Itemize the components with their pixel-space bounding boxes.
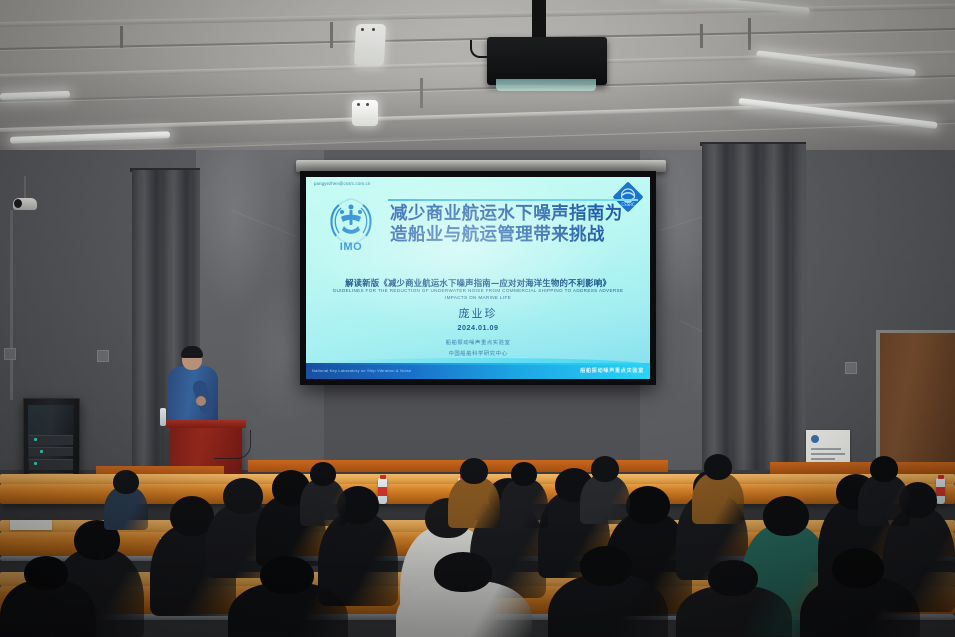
presenter-glasses-icon	[183, 357, 201, 362]
notice-line-1	[811, 448, 841, 450]
camera-lens-icon	[14, 199, 22, 208]
bottle-cap	[938, 475, 944, 479]
bottle-cap	[380, 475, 386, 479]
slide-email: pangyezhen@cssrc.com.cn	[314, 181, 370, 186]
audience-member	[500, 462, 548, 528]
projection-screen: pangyezhen@cssrc.com.cn	[300, 171, 656, 385]
audience-member	[676, 560, 792, 637]
wall-notice	[806, 430, 850, 466]
audience-head	[763, 496, 809, 536]
lamp-endcap-2	[372, 28, 375, 31]
audience-member	[858, 456, 910, 526]
audience-member	[580, 456, 630, 524]
curtain-right	[702, 144, 806, 474]
audience-body	[500, 479, 548, 528]
rack-led-2	[40, 450, 43, 453]
imo-logo-icon	[326, 195, 376, 247]
audience-head	[832, 548, 884, 588]
microphone-cable	[214, 430, 251, 459]
lamp-endcap-3	[357, 103, 360, 106]
wall-socket-1	[4, 348, 16, 360]
projector-lens	[496, 79, 596, 91]
audience-member	[300, 462, 346, 526]
lamp-endcap-4	[366, 103, 369, 106]
slide-subtitle-en: GUIDELINES FOR THE REDUCTION OF UNDERWAT…	[324, 287, 632, 301]
lecture-hall-photo: pangyezhen@cssrc.com.cn	[0, 0, 955, 637]
presenter-hand	[196, 396, 206, 406]
audience-head	[460, 458, 488, 484]
audience-member	[396, 552, 532, 637]
slide-org-line-1: 船舶振动噪声重点实验室	[316, 338, 640, 346]
audience-head	[113, 470, 139, 494]
audience-head	[580, 546, 632, 586]
audience-head	[626, 486, 670, 524]
audience-body	[858, 475, 910, 526]
title-divider	[388, 199, 638, 201]
audience-member	[448, 458, 500, 528]
projector-mount	[532, 0, 546, 40]
rack-led-3	[34, 462, 37, 465]
rack-led-1	[34, 438, 37, 441]
audience-body	[300, 479, 346, 526]
audience-head	[260, 556, 314, 594]
slide-speaker-name: 庞业珍	[316, 305, 640, 321]
ceiling-hanger-1	[120, 26, 123, 48]
ceiling-hanger-4	[748, 18, 751, 50]
ceiling-projector	[487, 37, 607, 85]
audience-head	[708, 560, 758, 596]
audience-body	[580, 475, 630, 524]
ceiling-light-5	[354, 24, 386, 66]
slide-footer-right-text: 船舶振动噪声重点实验室	[580, 367, 644, 374]
notice-logo-icon	[811, 435, 819, 443]
presentation-slide: pangyezhen@cssrc.com.cn	[306, 177, 650, 379]
ceiling-hanger-2	[330, 22, 333, 48]
audience-member	[0, 556, 96, 637]
audience-member	[548, 546, 668, 637]
audience-member	[692, 454, 744, 524]
audience-member	[228, 556, 348, 637]
podium-top	[166, 420, 246, 428]
slide-footer-bar: National Key Laboratory on Ship Vibratio…	[306, 363, 650, 379]
audience-head	[704, 454, 732, 480]
rack-unit-2	[29, 447, 73, 456]
ceiling-light-6	[352, 100, 378, 126]
ceiling-hanger-5	[420, 78, 423, 108]
audience-head	[24, 556, 68, 590]
slide-title: 减少商业航运水下噪声指南为造船业与航运管理带来挑战	[390, 204, 636, 247]
imo-label: IMO	[326, 241, 376, 253]
side-door[interactable]	[876, 330, 955, 473]
audience-head	[870, 456, 898, 482]
slide-footer-left-text: National Key Laboratory on Ship Vibratio…	[312, 368, 411, 373]
slide-org-line-2: 中国船舶科学研究中心	[316, 349, 640, 357]
audience-head	[310, 462, 336, 486]
notice-line-2	[811, 453, 845, 455]
projector-cable	[470, 40, 494, 58]
ceiling-hanger-3	[700, 24, 703, 48]
audience-member	[800, 548, 920, 637]
lamp-endcap-1	[361, 28, 364, 31]
slide-date: 2024.01.09	[316, 323, 640, 332]
audience-member	[104, 470, 148, 530]
audience-head	[434, 552, 492, 592]
audience-head	[591, 456, 619, 482]
paper-sheet	[10, 520, 52, 530]
audience-body	[692, 473, 744, 524]
wall-socket-2	[97, 350, 109, 362]
wall-socket-4	[845, 362, 857, 374]
notice-line-3	[811, 458, 835, 460]
audience-body	[448, 477, 500, 528]
audience-head	[511, 462, 537, 486]
wall-pipe	[10, 210, 13, 400]
